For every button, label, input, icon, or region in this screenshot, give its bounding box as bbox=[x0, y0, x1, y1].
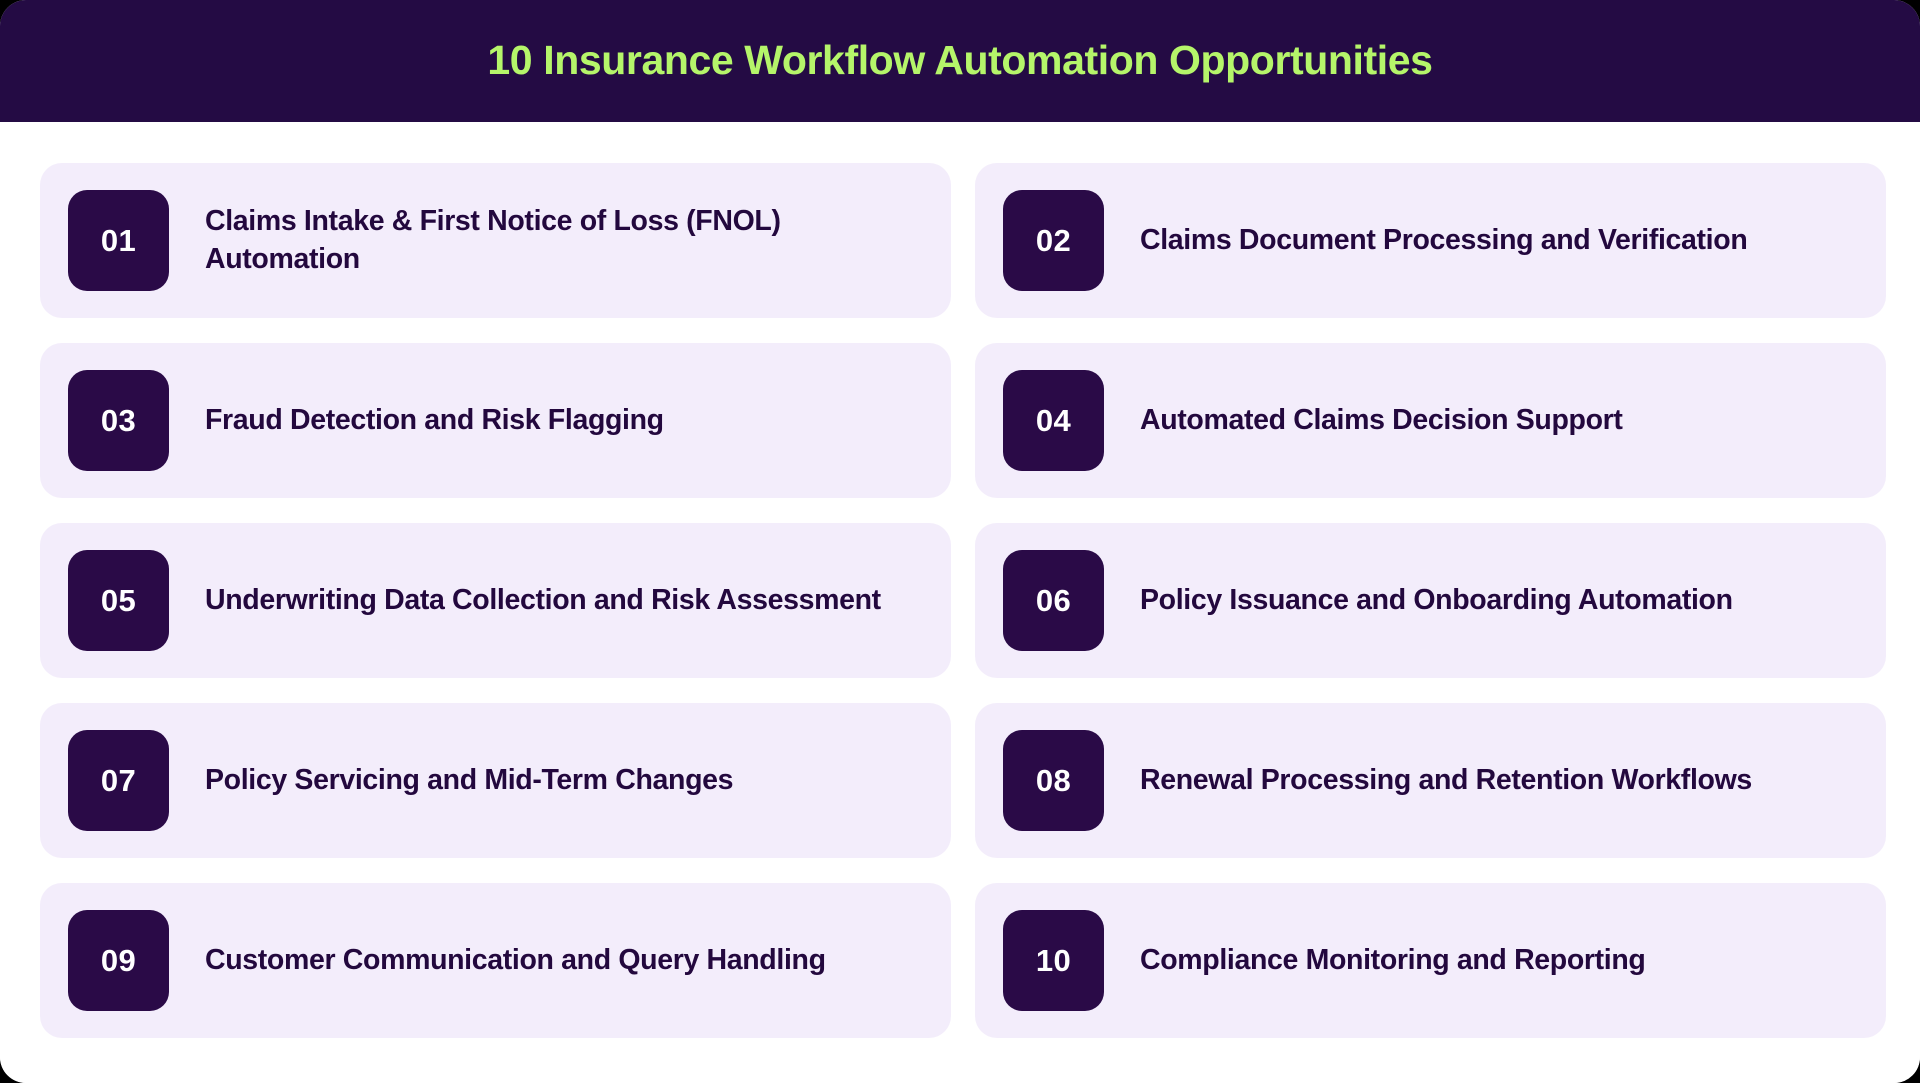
opportunity-card[interactable]: 09 Customer Communication and Query Hand… bbox=[40, 883, 951, 1038]
page-header: 10 Insurance Workflow Automation Opportu… bbox=[0, 0, 1920, 122]
card-number-badge: 06 bbox=[1003, 550, 1104, 651]
card-number-label: 10 bbox=[1036, 945, 1071, 976]
card-title-label: Compliance Monitoring and Reporting bbox=[1140, 942, 1645, 979]
card-number-label: 03 bbox=[101, 405, 136, 436]
card-title-label: Policy Servicing and Mid-Term Changes bbox=[205, 762, 733, 799]
infographic-frame: 10 Insurance Workflow Automation Opportu… bbox=[0, 0, 1920, 1083]
opportunity-card[interactable]: 05 Underwriting Data Collection and Risk… bbox=[40, 523, 951, 678]
card-number-badge: 03 bbox=[68, 370, 169, 471]
opportunity-card-grid: 01 Claims Intake & First Notice of Loss … bbox=[40, 163, 1886, 1038]
card-title-label: Customer Communication and Query Handlin… bbox=[205, 942, 826, 979]
opportunity-card[interactable]: 03 Fraud Detection and Risk Flagging bbox=[40, 343, 951, 498]
card-title-label: Underwriting Data Collection and Risk As… bbox=[205, 582, 881, 619]
card-number-badge: 08 bbox=[1003, 730, 1104, 831]
card-number-label: 07 bbox=[101, 765, 136, 796]
opportunity-card[interactable]: 06 Policy Issuance and Onboarding Automa… bbox=[975, 523, 1886, 678]
card-title-label: Policy Issuance and Onboarding Automatio… bbox=[1140, 582, 1733, 619]
card-number-badge: 09 bbox=[68, 910, 169, 1011]
card-number-badge: 07 bbox=[68, 730, 169, 831]
card-number-label: 08 bbox=[1036, 765, 1071, 796]
opportunity-card[interactable]: 04 Automated Claims Decision Support bbox=[975, 343, 1886, 498]
opportunity-card[interactable]: 08 Renewal Processing and Retention Work… bbox=[975, 703, 1886, 858]
card-number-label: 04 bbox=[1036, 405, 1071, 436]
opportunity-card[interactable]: 02 Claims Document Processing and Verifi… bbox=[975, 163, 1886, 318]
card-number-badge: 04 bbox=[1003, 370, 1104, 471]
opportunity-card[interactable]: 07 Policy Servicing and Mid-Term Changes bbox=[40, 703, 951, 858]
card-number-badge: 05 bbox=[68, 550, 169, 651]
card-title-label: Renewal Processing and Retention Workflo… bbox=[1140, 762, 1752, 799]
card-number-label: 01 bbox=[101, 225, 136, 256]
card-number-badge: 10 bbox=[1003, 910, 1104, 1011]
card-title-label: Claims Document Processing and Verificat… bbox=[1140, 222, 1747, 259]
opportunity-card[interactable]: 10 Compliance Monitoring and Reporting bbox=[975, 883, 1886, 1038]
card-number-badge: 01 bbox=[68, 190, 169, 291]
card-number-label: 09 bbox=[101, 945, 136, 976]
card-number-label: 06 bbox=[1036, 585, 1071, 616]
card-title-label: Automated Claims Decision Support bbox=[1140, 402, 1623, 439]
opportunity-card[interactable]: 01 Claims Intake & First Notice of Loss … bbox=[40, 163, 951, 318]
card-title-label: Claims Intake & First Notice of Loss (FN… bbox=[205, 203, 905, 277]
card-number-label: 05 bbox=[101, 585, 136, 616]
card-title-label: Fraud Detection and Risk Flagging bbox=[205, 402, 664, 439]
card-number-label: 02 bbox=[1036, 225, 1071, 256]
card-number-badge: 02 bbox=[1003, 190, 1104, 291]
cards-region: 01 Claims Intake & First Notice of Loss … bbox=[0, 122, 1920, 1083]
page-title: 10 Insurance Workflow Automation Opportu… bbox=[487, 38, 1432, 83]
